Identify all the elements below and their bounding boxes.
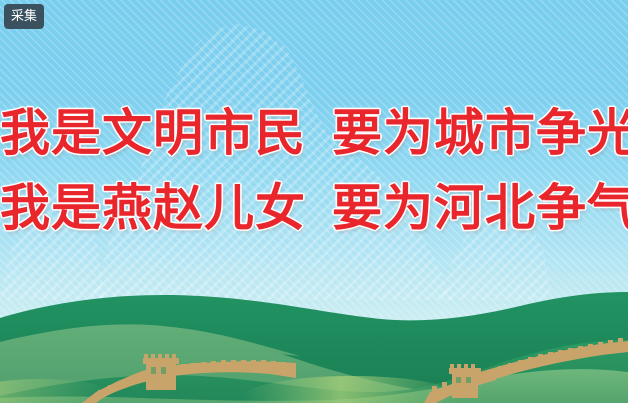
slogan-line-1: 我是文明市民要为城市争光 (0, 96, 628, 171)
slogan-line-2-part-1: 我是燕赵儿女 (0, 179, 306, 237)
slogan-line-1-part-2: 要为城市争光 (332, 104, 628, 162)
slogan-block: 我是文明市民要为城市争光 我是燕赵儿女要为河北争气 (0, 96, 628, 246)
slogan-line-2-part-2: 要为河北争气 (332, 179, 628, 237)
watchtower-right (449, 364, 481, 398)
slogan-line-2: 我是燕赵儿女要为河北争气 (0, 171, 628, 246)
slogan-line-1-part-1: 我是文明市民 (0, 104, 306, 162)
collect-button[interactable]: 采集 (4, 4, 44, 29)
propaganda-poster: 我是文明市民要为城市争光 我是燕赵儿女要为河北争气 采集 (0, 0, 628, 403)
